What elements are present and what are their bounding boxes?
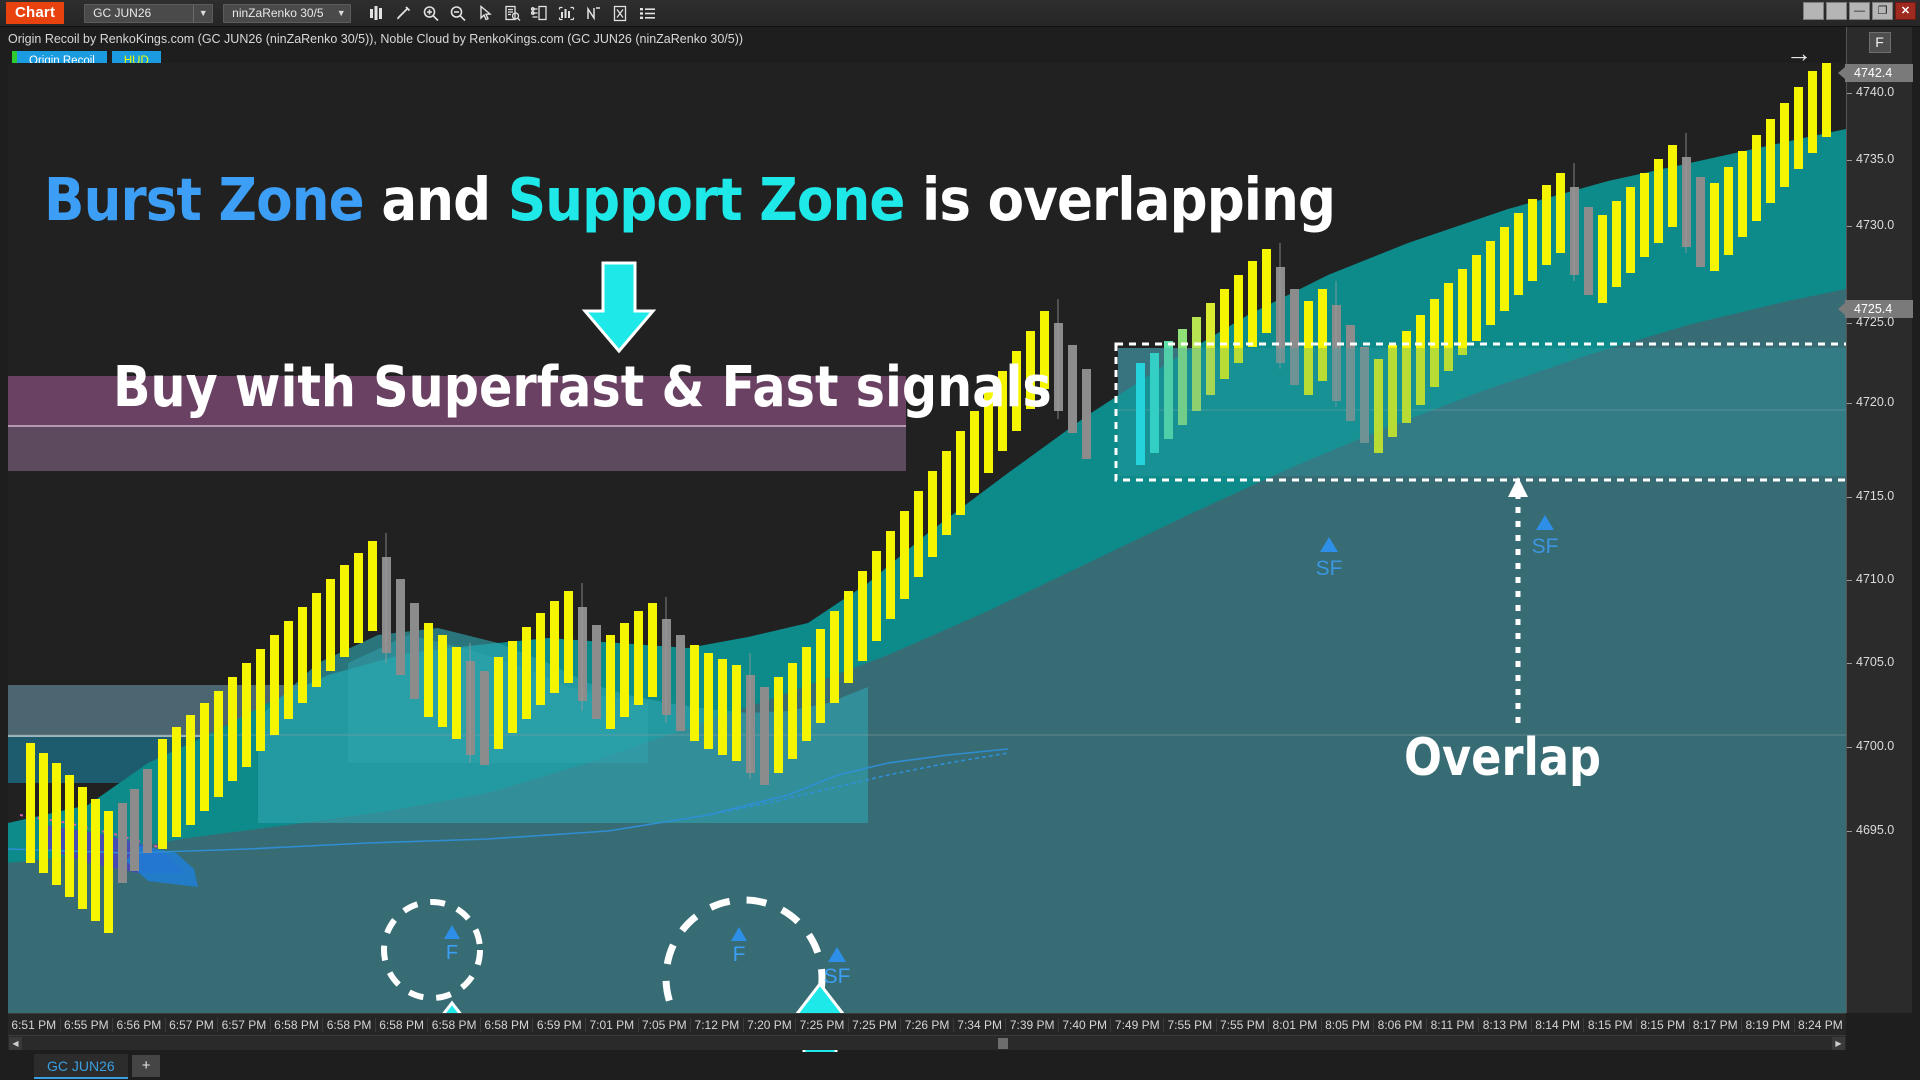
chevron-down-icon[interactable]: ▼	[332, 9, 350, 18]
horizontal-scrollbar[interactable]: ◀ ▶	[8, 1035, 1846, 1050]
svg-text:F: F	[446, 942, 458, 964]
price-axis-mode-button[interactable]: F	[1869, 32, 1891, 53]
overlap-annotation-label: Overlap	[1404, 728, 1601, 788]
price-tick-4715: 4715.0	[1847, 489, 1913, 503]
time-label: 7:01 PM	[585, 1018, 638, 1032]
time-label: 6:59 PM	[532, 1018, 585, 1032]
time-label: 8:13 PM	[1478, 1018, 1531, 1032]
toolbar-icon-group	[365, 2, 659, 24]
price-tick-4740: 4740.0	[1847, 85, 1913, 99]
zoom-out-icon[interactable]	[446, 2, 470, 24]
price-tick-4695: 4695.0	[1847, 823, 1913, 837]
time-label: 7:49 PM	[1110, 1018, 1163, 1032]
interval-selector[interactable]: ninZaRenko 30/5 ▼	[223, 4, 351, 23]
price-tick-4700: 4700.0	[1847, 739, 1913, 753]
minimize-icon[interactable]: —	[1849, 2, 1870, 20]
interval-value: ninZaRenko 30/5	[224, 6, 332, 20]
scroll-right-arrow-icon[interactable]: ▶	[1832, 1037, 1845, 1050]
time-label: 8:14 PM	[1531, 1018, 1584, 1032]
headline-support-zone: Support Zone	[508, 165, 905, 234]
close-icon[interactable]: ✕	[1895, 2, 1916, 20]
time-label: 8:24 PM	[1794, 1018, 1847, 1032]
top-toolbar: Chart GC JUN26 ▼ ninZaRenko 30/5 ▼	[0, 0, 1920, 27]
window-blank-2[interactable]	[1826, 2, 1847, 20]
headline-primary: Burst Zone and Support Zone is overlappi…	[44, 165, 1335, 234]
list-icon[interactable]	[635, 2, 659, 24]
time-label: 6:58 PM	[480, 1018, 533, 1032]
time-label: 8:06 PM	[1373, 1018, 1426, 1032]
time-label: 7:39 PM	[1005, 1018, 1058, 1032]
zoom-in-icon[interactable]	[419, 2, 443, 24]
price-tick-4705: 4705.0	[1847, 655, 1913, 669]
window-controls: — ❐ ✕	[1803, 2, 1916, 20]
time-label: 8:01 PM	[1268, 1018, 1321, 1032]
data-box-icon[interactable]	[500, 2, 524, 24]
pencil-draw-icon[interactable]	[392, 2, 416, 24]
svg-text:F: F	[733, 943, 746, 966]
panel-layout-icon[interactable]	[527, 2, 551, 24]
price-highlight-last: 4742.4	[1845, 64, 1913, 82]
indicator-icon[interactable]	[554, 2, 578, 24]
time-label: 7:25 PM	[848, 1018, 901, 1032]
instrument-selector[interactable]: GC JUN26 ▼	[84, 4, 213, 23]
time-label: 6:58 PM	[270, 1018, 323, 1032]
time-label: 7:55 PM	[1216, 1018, 1269, 1032]
time-label: 8:15 PM	[1583, 1018, 1636, 1032]
chart-menu-button[interactable]: Chart	[6, 2, 64, 24]
headline-burst-zone: Burst Zone	[44, 165, 364, 234]
time-label: 7:34 PM	[953, 1018, 1006, 1032]
time-label: 7:12 PM	[690, 1018, 743, 1032]
time-label: 8:15 PM	[1636, 1018, 1689, 1032]
time-label: 6:58 PM	[427, 1018, 480, 1032]
headline-secondary: Buy with Superfast & Fast signals	[113, 355, 1052, 420]
time-label: 6:57 PM	[217, 1018, 270, 1032]
price-axis-header: F	[1847, 27, 1912, 57]
properties-icon[interactable]	[608, 2, 632, 24]
svg-text:SF: SF	[1316, 557, 1343, 580]
time-label: 8:11 PM	[1426, 1018, 1479, 1032]
price-tick-4730: 4730.0	[1847, 218, 1913, 232]
window-blank-1[interactable]	[1803, 2, 1824, 20]
chevron-down-icon[interactable]: ▼	[194, 9, 212, 18]
price-tick-4735: 4735.0	[1847, 152, 1913, 166]
time-label: 7:40 PM	[1058, 1018, 1111, 1032]
instrument-value: GC JUN26	[85, 6, 193, 20]
time-label: 6:58 PM	[375, 1018, 428, 1032]
time-label: 6:57 PM	[165, 1018, 218, 1032]
time-label: 6:55 PM	[60, 1018, 113, 1032]
time-label: 6:51 PM	[8, 1018, 60, 1032]
bars-chart-icon[interactable]	[365, 2, 389, 24]
price-tick-4725: 4725.0	[1847, 315, 1913, 329]
indicator-title: Origin Recoil by RenkoKings.com (GC JUN2…	[8, 32, 743, 46]
time-axis[interactable]: 6:51 PM 6:55 PM 6:56 PM 6:57 PM 6:57 PM …	[8, 1013, 1846, 1035]
scroll-left-arrow-icon[interactable]: ◀	[9, 1037, 22, 1050]
time-label: 6:56 PM	[112, 1018, 165, 1032]
time-label: 8:19 PM	[1741, 1018, 1794, 1032]
tab-gc-jun26[interactable]: GC JUN26	[34, 1054, 128, 1079]
price-axis[interactable]: F 4742.4 4740.0 4735.0 4730.0 4725.4 472…	[1846, 27, 1912, 1013]
ninjatrader-chart-window: Chart GC JUN26 ▼ ninZaRenko 30/5 ▼	[0, 0, 1920, 1080]
time-label: 7:05 PM	[638, 1018, 691, 1032]
add-tab-button[interactable]: +	[132, 1055, 161, 1077]
time-label: 7:25 PM	[795, 1018, 848, 1032]
burst-zone-lower	[8, 427, 906, 471]
time-label: 7:26 PM	[900, 1018, 953, 1032]
chart-canvas[interactable]: F F SF SF SF	[8, 63, 1846, 1013]
restore-icon[interactable]: ❐	[1872, 2, 1893, 20]
time-label: 6:58 PM	[322, 1018, 375, 1032]
headline-and: and	[364, 165, 508, 234]
cursor-pointer-icon[interactable]	[473, 2, 497, 24]
time-label: 7:20 PM	[743, 1018, 796, 1032]
bottom-tab-strip: GC JUN26 +	[0, 1052, 1920, 1080]
svg-text:SF: SF	[1532, 535, 1559, 558]
scrollbar-thumb[interactable]	[998, 1038, 1008, 1049]
price-tick-4710: 4710.0	[1847, 572, 1913, 586]
time-label: 7:55 PM	[1163, 1018, 1216, 1032]
headline-overlapping: is overlapping	[904, 165, 1335, 234]
time-label: 8:17 PM	[1689, 1018, 1742, 1032]
strategy-icon[interactable]	[581, 2, 605, 24]
time-label: 8:05 PM	[1321, 1018, 1374, 1032]
price-tick-4720: 4720.0	[1847, 395, 1913, 409]
